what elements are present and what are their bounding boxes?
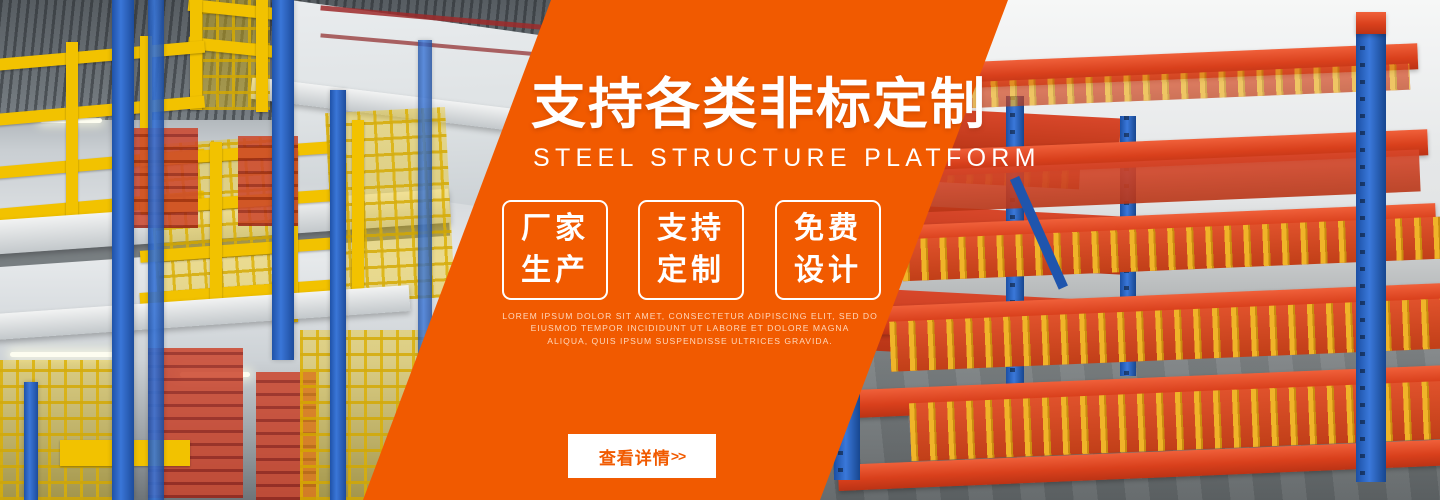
feature-badge-customization: 支持 定制 xyxy=(638,200,744,300)
badge-line-2: 定制 xyxy=(657,250,725,292)
promo-banner: 支持各类非标定制 STEEL STRUCTURE PLATFORM 厂家 生产 … xyxy=(0,0,1440,500)
feature-badge-manufacturer: 厂家 生产 xyxy=(502,200,608,300)
banner-subtitle: STEEL STRUCTURE PLATFORM xyxy=(533,144,1041,173)
description-line-1: LOREM IPSUM DOLOR SIT AMET, CONSECTETUR … xyxy=(500,310,880,322)
chevron-right-icon: >> xyxy=(671,448,685,464)
badge-line-1: 厂家 xyxy=(521,208,589,250)
badge-line-2: 设计 xyxy=(794,250,862,292)
description-line-3: ALIQUA, QUIS IPSUM SUSPENDISSE ULTRICES … xyxy=(500,335,880,347)
badge-line-2: 生产 xyxy=(521,250,589,292)
banner-content: 支持各类非标定制 STEEL STRUCTURE PLATFORM 厂家 生产 … xyxy=(0,0,1440,500)
view-details-button[interactable]: 查看详情 >> xyxy=(568,434,716,478)
description-line-2: EIUSMOD TEMPOR INCIDIDUNT UT LABORE ET D… xyxy=(500,322,880,334)
feature-badge-free-design: 免费 设计 xyxy=(775,200,881,300)
badge-line-1: 免费 xyxy=(794,208,862,250)
banner-description: LOREM IPSUM DOLOR SIT AMET, CONSECTETUR … xyxy=(500,310,880,347)
page-title: 支持各类非标定制 xyxy=(531,74,987,134)
view-details-label: 查看详情 xyxy=(599,444,671,469)
badge-line-1: 支持 xyxy=(657,208,725,250)
